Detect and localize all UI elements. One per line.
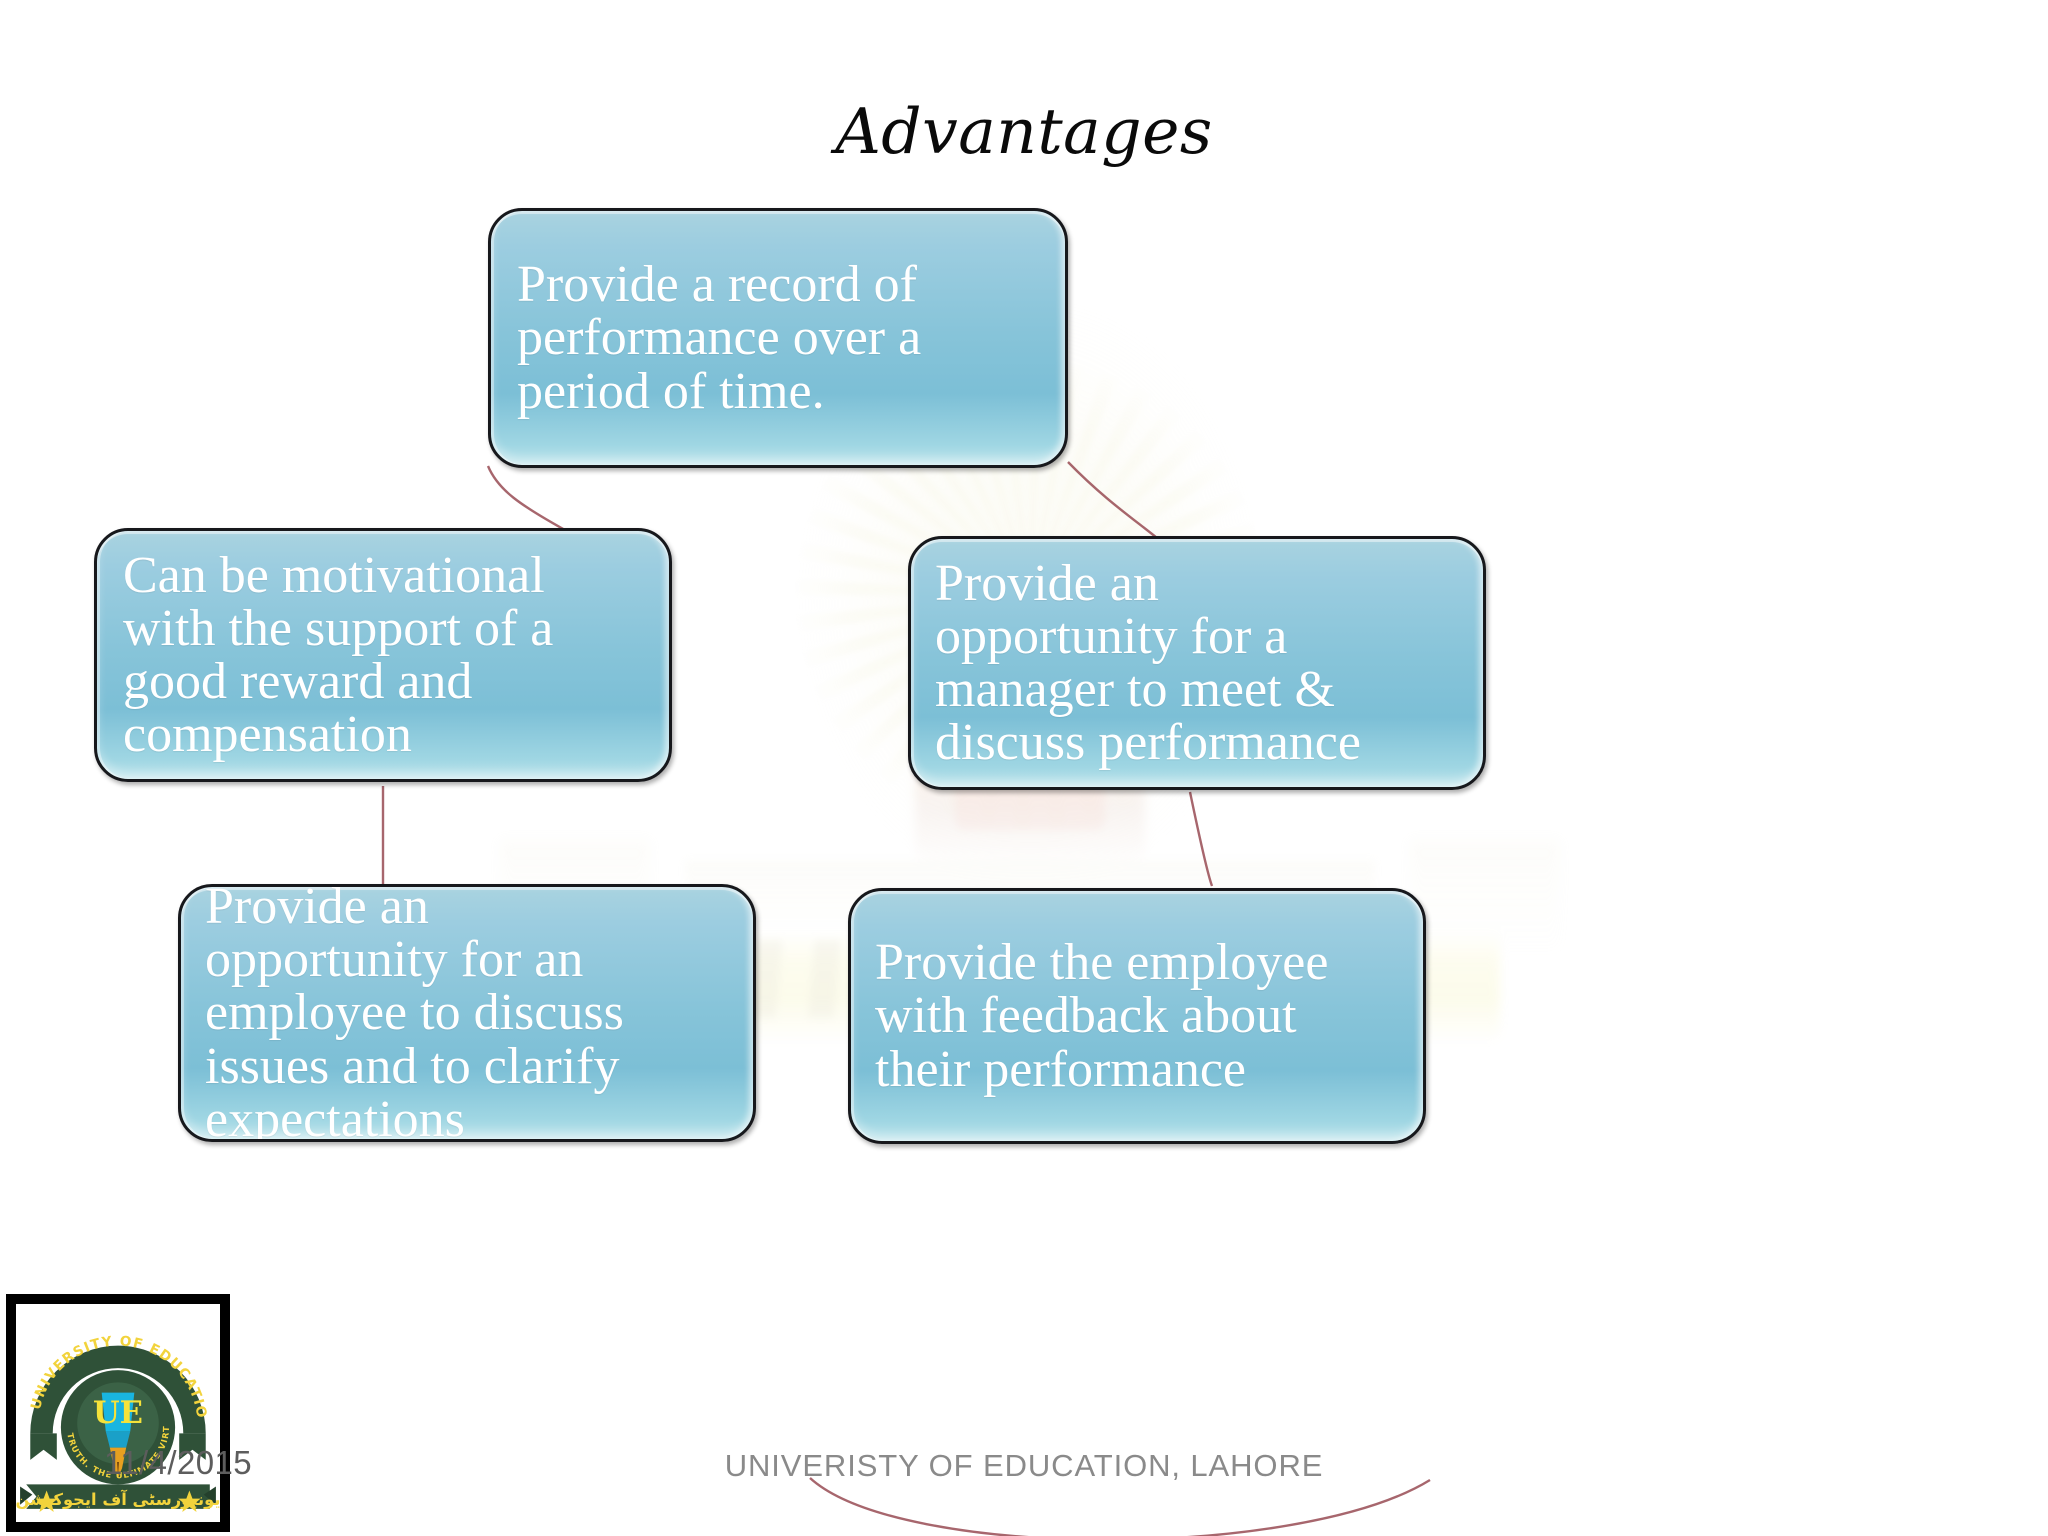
connector-right-to-bottom-right: [1190, 792, 1212, 886]
svg-text:یونیورسٹی آف ایجوکیشن: یونیورسٹی آف ایجوکیشن: [16, 1488, 220, 1509]
node-record-of-performance[interactable]: Provide a record of performance over a p…: [488, 208, 1068, 468]
footer-date: 11/4/2015: [104, 1444, 252, 1482]
watermark-right-pillar: [1410, 840, 1560, 950]
footer-organization: UNIVERISTY OF EDUCATION, LAHORE: [0, 1448, 2048, 1484]
logo-artwork: UNIVERSITY OF EDUCATION UE TRUTH. THE UL…: [16, 1304, 220, 1522]
node-employee-feedback-label: Provide the employee with feedback about…: [851, 936, 1423, 1095]
node-motivational-reward[interactable]: Can be motivational with the support of …: [94, 528, 672, 782]
node-employee-feedback[interactable]: Provide the employee with feedback about…: [848, 888, 1426, 1144]
node-manager-opportunity-label: Provide an opportunity for a manager to …: [911, 557, 1483, 769]
node-manager-opportunity[interactable]: Provide an opportunity for a manager to …: [908, 536, 1486, 790]
connector-bottom-arc: [810, 1478, 1430, 1536]
slide-canvas: Advantages Provide a record of performan…: [0, 0, 2048, 1536]
connector-top-to-right: [1068, 462, 1157, 538]
node-employee-opportunity[interactable]: Provide an opportunity for an employee t…: [178, 884, 756, 1142]
svg-text:UE: UE: [93, 1395, 143, 1431]
node-employee-opportunity-label: Provide an opportunity for an employee t…: [181, 884, 753, 1142]
connector-left-to-top: [488, 466, 565, 530]
slide-title: Advantages: [0, 100, 2048, 163]
node-motivational-reward-label: Can be motivational with the support of …: [97, 549, 669, 761]
university-of-education-logo: UNIVERSITY OF EDUCATION UE TRUTH. THE UL…: [6, 1294, 230, 1532]
node-record-of-performance-label: Provide a record of performance over a p…: [491, 258, 1065, 417]
